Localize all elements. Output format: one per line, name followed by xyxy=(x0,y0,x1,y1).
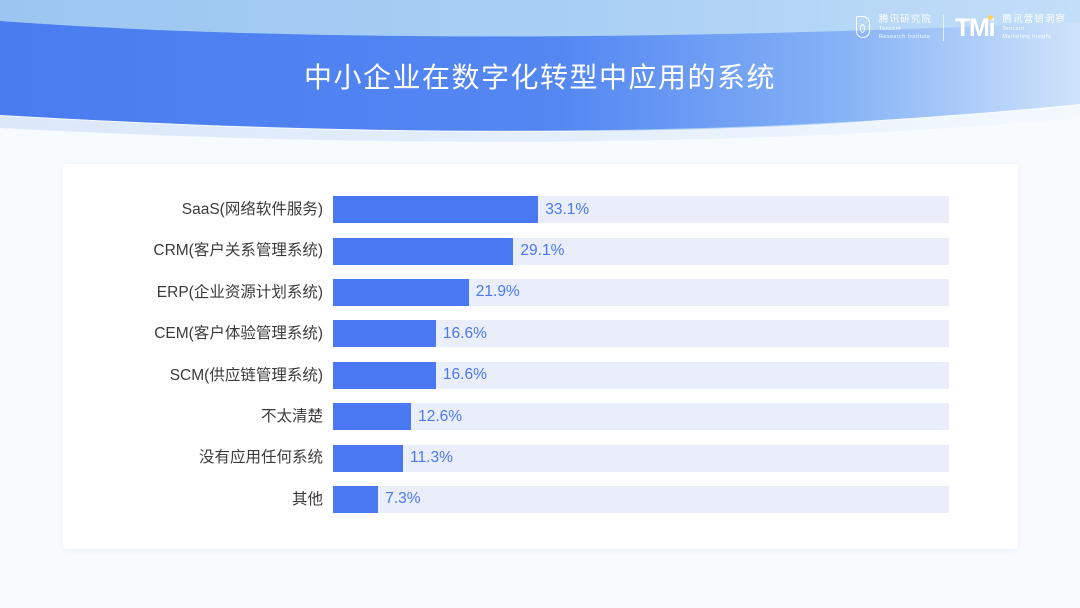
bar-category-label: CEM(客户体验管理系统) xyxy=(63,326,333,342)
horizontal-bar-chart: SaaS(网络软件服务)33.1%CRM(客户关系管理系统)29.1%ERP(企… xyxy=(63,189,1018,520)
bar-fill xyxy=(333,320,436,347)
logo-divider xyxy=(943,15,944,41)
bar-fill xyxy=(333,196,538,223)
bar-category-label: 不太清楚 xyxy=(63,409,333,425)
chart-card: SaaS(网络软件服务)33.1%CRM(客户关系管理系统)29.1%ERP(企… xyxy=(63,164,1018,549)
tmi-cn-label: 腾讯营销洞察 xyxy=(1002,15,1066,25)
tmi-subtitle-block: 腾讯营销洞察 Tencent Marketing Insight xyxy=(1002,15,1066,41)
tmi-accent-dot-icon xyxy=(988,15,993,20)
bar-track: 16.6% xyxy=(333,362,949,389)
bar-value-label: 21.9% xyxy=(469,279,520,306)
bar-row: SaaS(网络软件服务)33.1% xyxy=(63,189,1018,230)
bar-fill xyxy=(333,445,403,472)
bar-fill xyxy=(333,486,378,513)
bar-row: SCM(供应链管理系统)16.6% xyxy=(63,355,1018,396)
bar-category-label: SaaS(网络软件服务) xyxy=(63,202,333,218)
tencent-research-pen-icon xyxy=(854,15,873,41)
tmi-en-line1: Tencent xyxy=(1002,27,1066,33)
bar-row: ERP(企业资源计划系统)21.9% xyxy=(63,272,1018,313)
bar-row: 其他7.3% xyxy=(63,479,1018,520)
tencent-research-cn-label: 腾讯研究院 xyxy=(879,15,932,25)
bar-fill xyxy=(333,279,469,306)
bar-value-label: 11.3% xyxy=(403,445,453,472)
bar-value-label: 12.6% xyxy=(411,403,462,430)
bar-value-label: 33.1% xyxy=(538,196,589,223)
tmi-en-line2: Marketing Insight xyxy=(1002,35,1066,41)
slide-header: 中小企业在数字化转型中应用的系统 腾讯研究院 Tencent Research … xyxy=(0,0,1080,150)
bar-fill xyxy=(333,362,436,389)
tencent-research-en-line1: Tencent xyxy=(879,27,932,33)
bar-category-label: 其他 xyxy=(63,492,333,508)
bar-row: CRM(客户关系管理系统)29.1% xyxy=(63,230,1018,271)
bar-track: 21.9% xyxy=(333,279,949,306)
bar-row: 没有应用任何系统11.3% xyxy=(63,437,1018,478)
bar-track: 16.6% xyxy=(333,320,949,347)
tencent-research-en-line2: Research Institute xyxy=(879,35,932,41)
page-title: 中小企业在数字化转型中应用的系统 xyxy=(0,56,1080,96)
bar-track: 12.6% xyxy=(333,403,949,430)
bar-fill xyxy=(333,238,513,265)
brand-logos: 腾讯研究院 Tencent Research Institute TMi 腾讯营… xyxy=(854,11,1066,45)
bar-track: 29.1% xyxy=(333,238,949,265)
bar-track: 11.3% xyxy=(333,445,949,472)
bar-category-label: CRM(客户关系管理系统) xyxy=(63,243,333,259)
bar-value-label: 29.1% xyxy=(513,238,564,265)
tmi-wordmark-icon: TMi xyxy=(955,16,994,41)
slide-root: 中小企业在数字化转型中应用的系统 腾讯研究院 Tencent Research … xyxy=(0,0,1080,608)
bar-row: 不太清楚12.6% xyxy=(63,396,1018,437)
bar-track: 7.3% xyxy=(333,486,949,513)
bar-row: CEM(客户体验管理系统)16.6% xyxy=(63,313,1018,354)
bar-category-label: ERP(企业资源计划系统) xyxy=(63,285,333,301)
tmi-logo: TMi 腾讯营销洞察 Tencent Marketing Insight xyxy=(955,11,1066,45)
bar-value-label: 7.3% xyxy=(378,486,420,513)
tencent-research-wordmark: 腾讯研究院 Tencent Research Institute xyxy=(879,15,932,41)
tencent-research-logo: 腾讯研究院 Tencent Research Institute xyxy=(854,11,932,45)
bar-category-label: 没有应用任何系统 xyxy=(63,450,333,466)
bar-fill xyxy=(333,403,411,430)
bar-value-label: 16.6% xyxy=(436,362,487,389)
bar-track: 33.1% xyxy=(333,196,949,223)
bar-value-label: 16.6% xyxy=(436,320,487,347)
bar-category-label: SCM(供应链管理系统) xyxy=(63,368,333,384)
